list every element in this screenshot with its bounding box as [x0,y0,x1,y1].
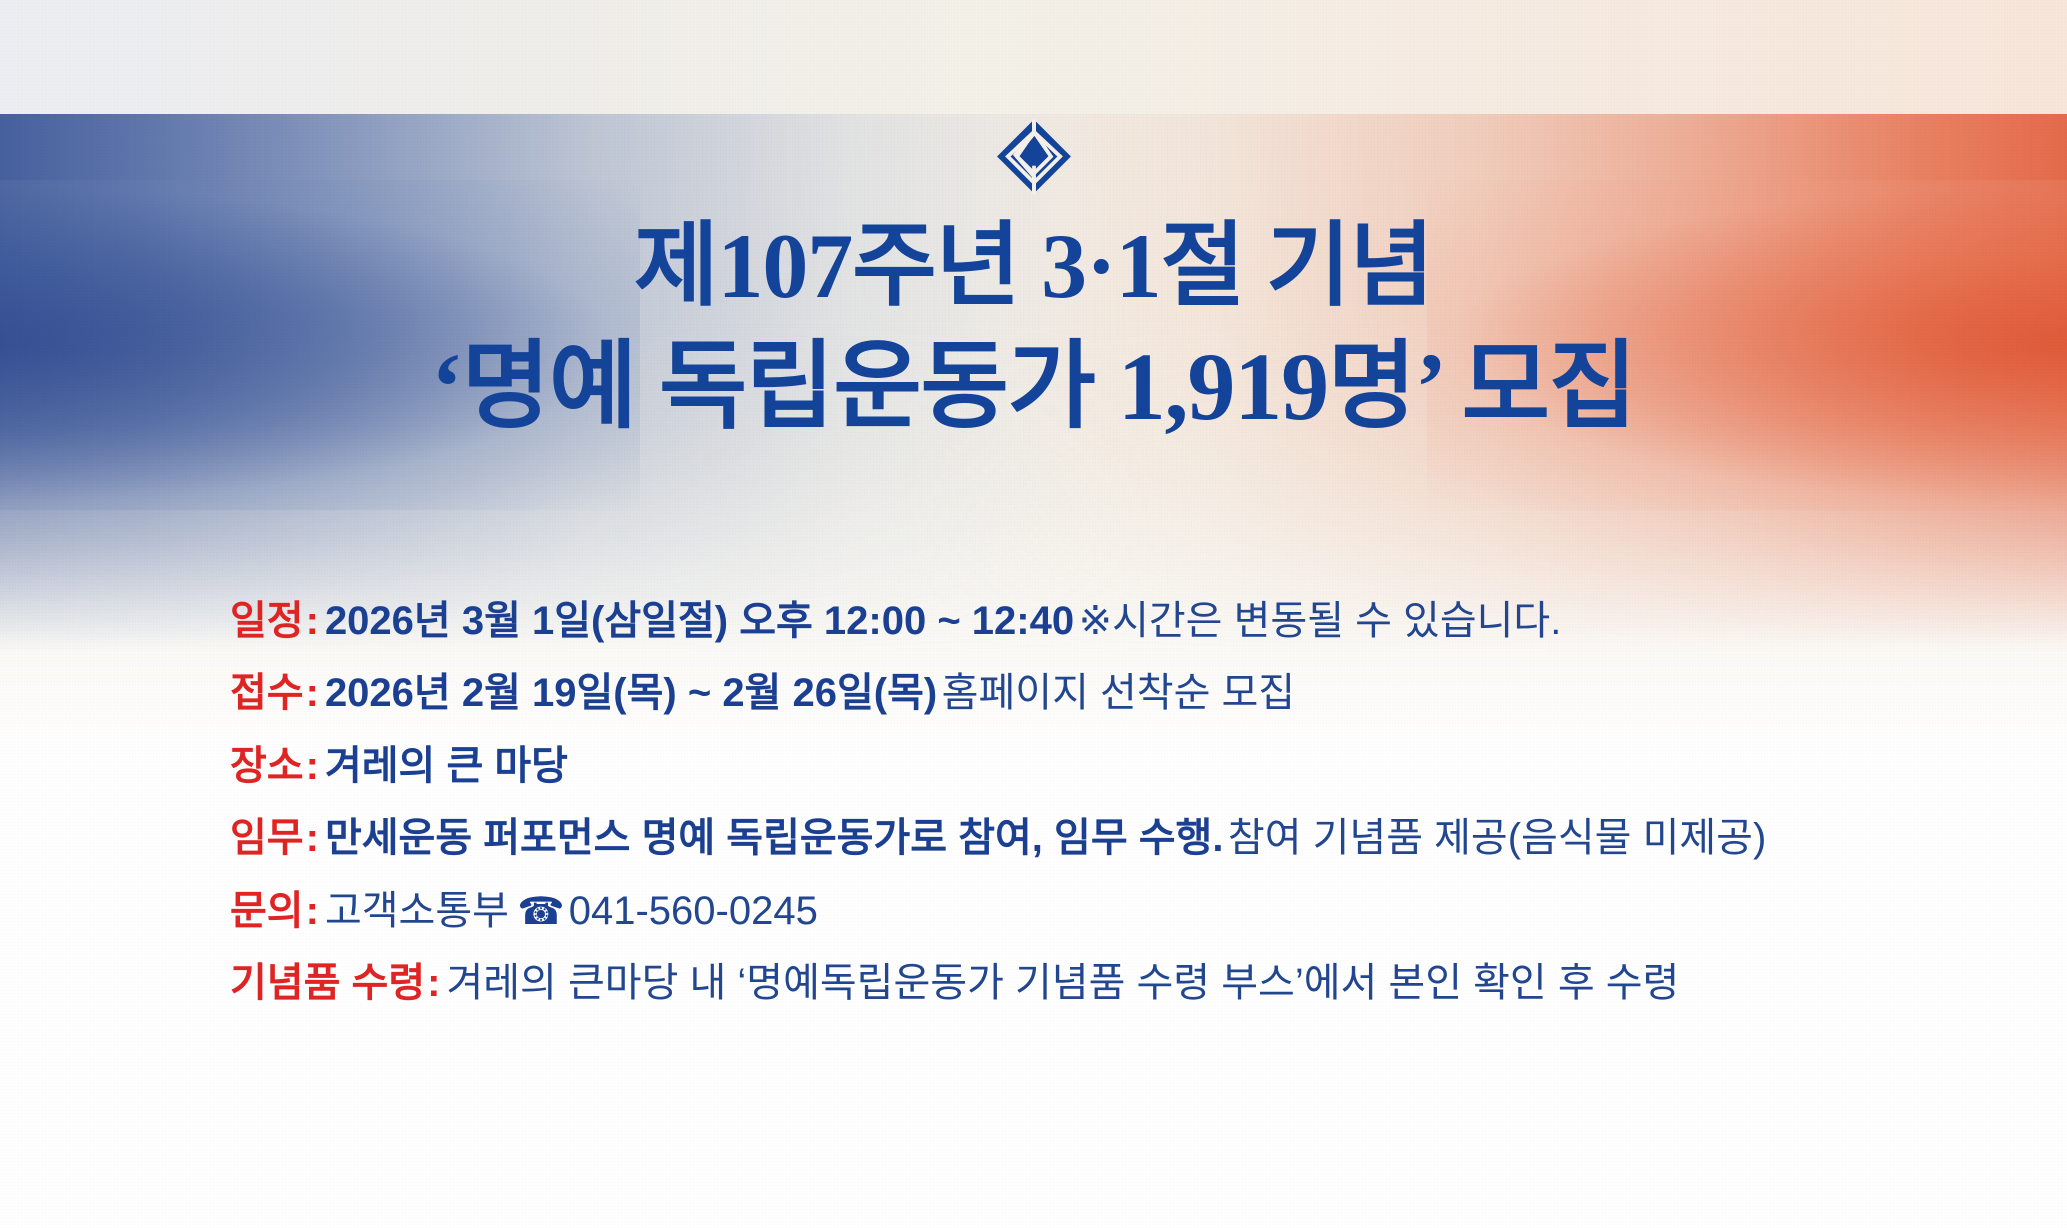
detail-note-mission: 참여 기념품 제공(음식물 미제공) [1228,816,1766,860]
detail-label-contact: 문의 [230,889,304,933]
detail-note-schedule: ※시간은 변동될 수 있습니다. [1079,599,1562,643]
independence-hall-diamond-emblem [995,118,1073,198]
detail-label-registration: 접수 [230,671,304,715]
detail-value-contact-dept: 고객소통부 [325,889,509,933]
detail-separator: : [304,816,325,860]
event-poster: 제107주년 3·1절 기념 ‘명예 독립운동가 1,919명’ 모집 일정:2… [0,0,2067,1228]
detail-row-venue: 장소:겨레의 큰 마당 [230,741,1990,791]
detail-value-mission: 만세운동 퍼포먼스 명예 독립운동가로 참여, 임무 수행. [325,816,1224,860]
detail-value-contact-phone: 041-560-0245 [569,889,818,933]
event-details-list: 일정:2026년 3월 1일(삼일절) 오후 12:00 ~ 12:40 ※시간… [230,596,1990,1009]
detail-row-souvenir: 기념품 수령:겨레의 큰마당 내 ‘명예독립운동가 기념품 수령 부스’에서 본… [230,958,1990,1008]
detail-separator: : [304,889,325,933]
detail-label-mission: 임무 [230,816,304,860]
detail-value-schedule: 2026년 3월 1일(삼일절) 오후 12:00 ~ 12:40 [325,599,1074,643]
detail-separator: : [304,744,325,788]
detail-separator: : [304,671,325,715]
detail-label-souvenir: 기념품 수령 [230,961,425,1005]
title-line-1: 제107주년 3·1절 기념 [0,210,2067,322]
telephone-icon: ☎ [513,891,568,933]
detail-separator: : [425,961,446,1005]
title-line-2: ‘명예 독립운동가 1,919명’ 모집 [0,328,2067,445]
detail-row-mission: 임무:만세운동 퍼포먼스 명예 독립운동가로 참여, 임무 수행. 참여 기념품… [230,813,1990,863]
detail-value-venue: 겨레의 큰 마당 [325,744,568,788]
detail-row-schedule: 일정:2026년 3월 1일(삼일절) 오후 12:00 ~ 12:40 ※시간… [230,596,1990,646]
detail-value-souvenir: 겨레의 큰마당 내 ‘명예독립운동가 기념품 수령 부스’에서 본인 확인 후 … [446,961,1679,1005]
poster-title: 제107주년 3·1절 기념 ‘명예 독립운동가 1,919명’ 모집 [0,210,2067,445]
detail-value-registration: 2026년 2월 19일(목) ~ 2월 26일(목) [325,671,937,715]
detail-label-venue: 장소 [230,744,304,788]
detail-label-schedule: 일정 [230,599,304,643]
detail-row-contact: 문의:고객소통부 ☎041-560-0245 [230,886,1990,937]
detail-row-registration: 접수:2026년 2월 19일(목) ~ 2월 26일(목) 홈페이지 선착순 … [230,668,1990,718]
detail-note-registration: 홈페이지 선착순 모집 [942,671,1295,715]
detail-separator: : [304,599,325,643]
